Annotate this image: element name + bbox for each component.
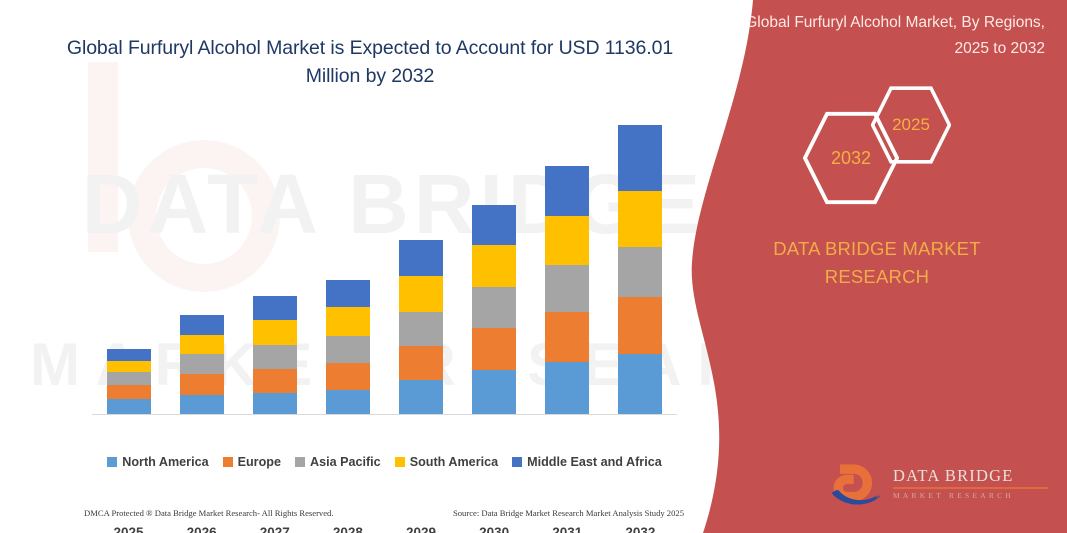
legend-swatch-icon — [512, 457, 522, 467]
bar-segment — [545, 362, 589, 414]
page-title: Global Furfuryl Alcohol Market is Expect… — [60, 34, 680, 90]
hexagon-group: 2032 2025 — [687, 85, 1067, 220]
footer-copyright: DMCA Protected ® Data Bridge Market Rese… — [84, 508, 334, 518]
bar-segment — [253, 296, 297, 320]
bar-segment — [107, 399, 151, 414]
chart-legend: North AmericaEuropeAsia PacificSouth Ame… — [92, 455, 677, 469]
legend-item: Middle East and Africa — [512, 455, 662, 469]
legend-label: Europe — [238, 455, 281, 469]
legend-label: Middle East and Africa — [527, 455, 662, 469]
stacked-bar — [545, 166, 589, 414]
bar-segment — [545, 265, 589, 312]
bar-segment — [180, 395, 224, 414]
bar-segment — [399, 380, 443, 414]
logo-divider — [893, 487, 1048, 489]
bar-segment — [472, 245, 516, 287]
panel-brand-line-1: DATA BRIDGE MARKET — [727, 235, 1027, 263]
bar-segment — [253, 345, 297, 369]
bar-group-2027 — [238, 111, 311, 414]
bar-group-2028 — [311, 111, 384, 414]
legend-label: South America — [410, 455, 498, 469]
bar-segment — [399, 346, 443, 379]
bar-segment — [618, 191, 662, 246]
bar-segment — [472, 328, 516, 370]
panel-brand: DATA BRIDGE MARKET RESEARCH — [687, 235, 1067, 291]
x-axis-tick-2027: 2027 — [238, 525, 311, 533]
chart-x-axis: 20252026202720282029203020312032 — [92, 525, 677, 533]
bar-segment — [107, 361, 151, 372]
stacked-bar — [618, 125, 662, 414]
bar-segment — [326, 390, 370, 414]
bar-segment — [253, 320, 297, 345]
bar-segment — [472, 287, 516, 329]
x-axis-tick-2031: 2031 — [531, 525, 604, 533]
data-bridge-logo-icon — [827, 464, 889, 512]
legend-label: Asia Pacific — [310, 455, 381, 469]
logo-text: DATA BRIDGE MARKET RESEARCH — [893, 466, 1048, 500]
hexagon-start-year: 2025 — [871, 85, 951, 165]
bar-group-2025 — [92, 111, 165, 414]
legend-swatch-icon — [223, 457, 233, 467]
bar-group-2030 — [458, 111, 531, 414]
bar-segment — [545, 216, 589, 265]
stacked-bar-chart: 20252026202720282029203020312032 — [92, 110, 677, 415]
x-axis-tick-2025: 2025 — [92, 525, 165, 533]
legend-swatch-icon — [107, 457, 117, 467]
stacked-bar — [253, 296, 297, 414]
bar-segment — [107, 349, 151, 360]
bar-group-2031 — [531, 111, 604, 414]
bar-segment — [326, 336, 370, 363]
bar-segment — [545, 312, 589, 362]
x-axis-tick-2026: 2026 — [165, 525, 238, 533]
bar-segment — [618, 247, 662, 297]
right-panel: Global Furfuryl Alcohol Market, By Regio… — [687, 0, 1067, 533]
stacked-bar — [107, 349, 151, 414]
bar-segment — [253, 369, 297, 393]
logo-subtitle: MARKET RESEARCH — [893, 491, 1048, 500]
bar-segment — [326, 307, 370, 335]
legend-item: Asia Pacific — [295, 455, 381, 469]
bar-segment — [399, 312, 443, 346]
bar-segment — [107, 385, 151, 400]
bar-segment — [180, 315, 224, 335]
bar-segment — [180, 354, 224, 374]
stacked-bar — [399, 240, 443, 414]
stacked-bar — [180, 315, 224, 414]
bar-segment — [253, 393, 297, 414]
legend-label: North America — [122, 455, 208, 469]
bar-segment — [180, 374, 224, 395]
bar-segment — [618, 125, 662, 192]
stacked-bar — [326, 280, 370, 414]
bar-segment — [399, 276, 443, 312]
bar-segment — [326, 363, 370, 390]
bar-segment — [180, 335, 224, 355]
bar-segment — [472, 205, 516, 245]
bar-segment — [107, 372, 151, 385]
bar-segment — [545, 166, 589, 215]
panel-brand-line-2: RESEARCH — [727, 263, 1027, 291]
x-axis-tick-2028: 2028 — [311, 525, 384, 533]
logo-name: DATA BRIDGE — [893, 466, 1048, 486]
bar-group-2032 — [604, 111, 677, 414]
footer: DMCA Protected ® Data Bridge Market Rese… — [84, 508, 684, 518]
x-axis-tick-2030: 2030 — [458, 525, 531, 533]
x-axis-tick-2029: 2029 — [385, 525, 458, 533]
bar-segment — [399, 240, 443, 277]
infographic-canvas: DATA BRIDGE MARKET RESEARCH Global Furfu… — [0, 0, 1067, 533]
chart-plot-area — [92, 111, 677, 415]
legend-item: South America — [395, 455, 498, 469]
legend-swatch-icon — [395, 457, 405, 467]
footer-source: Source: Data Bridge Market Research Mark… — [453, 508, 684, 518]
bar-group-2026 — [165, 111, 238, 414]
legend-item: Europe — [223, 455, 281, 469]
panel-title: Global Furfuryl Alcohol Market, By Regio… — [687, 10, 1067, 62]
hexagon-end-year-label: 2032 — [831, 148, 871, 169]
stacked-bar — [472, 205, 516, 414]
bar-group-2029 — [385, 111, 458, 414]
legend-item: North America — [107, 455, 208, 469]
hexagon-start-year-label: 2025 — [892, 115, 930, 135]
bar-segment — [472, 370, 516, 414]
company-logo: DATA BRIDGE MARKET RESEARCH — [827, 462, 1047, 514]
x-axis-tick-2032: 2032 — [604, 525, 677, 533]
bar-segment — [326, 280, 370, 307]
legend-swatch-icon — [295, 457, 305, 467]
bar-segment — [618, 297, 662, 354]
bar-segment — [618, 354, 662, 414]
